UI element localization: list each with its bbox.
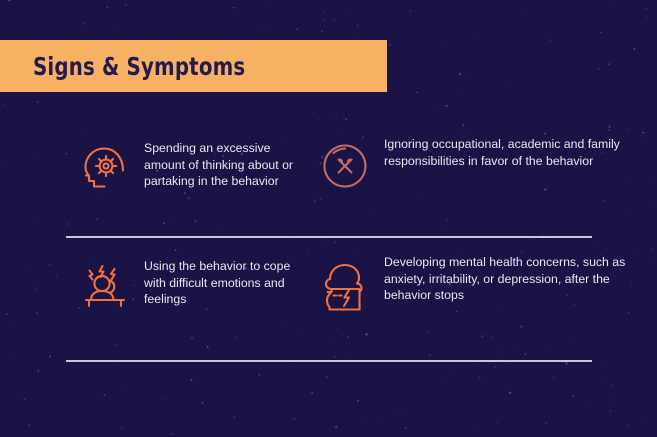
header-banner: Signs & Symptoms	[0, 40, 387, 92]
head-storm-cloud-icon	[306, 236, 384, 312]
head-gear-icon	[66, 118, 144, 192]
symptom-text-3: Using the behavior to cope with difficul…	[144, 236, 295, 308]
circle-x-icon	[306, 118, 384, 192]
symptom-item-2: Ignoring occupational, academic and fami…	[295, 118, 657, 236]
symptom-item-4: Developing mental health concerns, such …	[295, 236, 657, 354]
symptoms-row-1: Spending an excessive amount of thinking…	[0, 118, 657, 236]
divider-1	[66, 236, 592, 238]
symptoms-row-2: Using the behavior to cope with difficul…	[0, 236, 657, 354]
symptom-item-3: Using the behavior to cope with difficul…	[0, 236, 295, 354]
divider-2	[66, 360, 592, 362]
page-title: Signs & Symptoms	[33, 52, 245, 81]
symptom-item-1: Spending an excessive amount of thinking…	[0, 118, 295, 236]
symptom-text-2: Ignoring occupational, academic and fami…	[384, 118, 657, 169]
symptom-text-4: Developing mental health concerns, such …	[384, 236, 657, 304]
symptom-text-1: Spending an excessive amount of thinking…	[144, 118, 295, 190]
stressed-person-at-desk-icon	[66, 236, 144, 310]
